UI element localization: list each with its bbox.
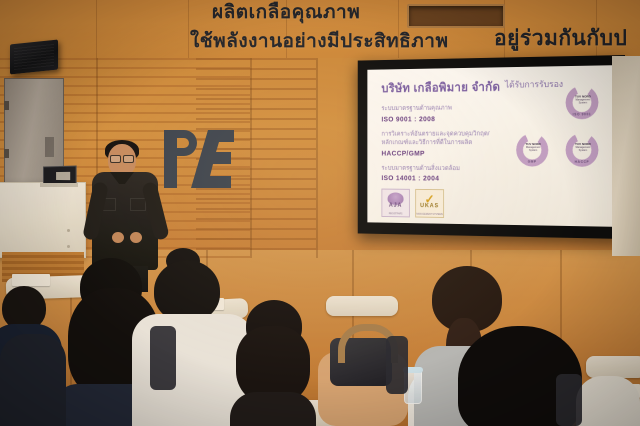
- chair-back: [386, 336, 408, 394]
- wall-slogan-line-1: ผลิตเกลือคุณภาพ: [212, 0, 360, 27]
- aja-name: AJA: [382, 203, 409, 209]
- accreditation-logos: AJA REGISTRARS ✓ UKAS MANAGEMENT SYSTEMS: [381, 189, 445, 218]
- presenter-laptop: [40, 166, 76, 188]
- cert-caption: Management System: [526, 146, 540, 152]
- tuv-nord-iso9001-icon: TUV NORD Management System ISO 9001: [566, 85, 599, 119]
- cert-mark-label: HACCP: [566, 160, 599, 164]
- cert-mark-label: GMP: [516, 160, 548, 164]
- ukas-sub: MANAGEMENT SYSTEMS: [416, 213, 443, 216]
- cert-caption: Management System: [576, 98, 591, 104]
- lectern: [0, 182, 86, 258]
- audience-member: [230, 300, 316, 426]
- tuv-nord-gmp-icon: TUV NORD Management System GMP: [516, 133, 548, 166]
- wall-slogan-line-2: ใช้พลังงานอย่างมีประสิทธิภาพ: [190, 26, 448, 56]
- ukas-logo: ✓ UKAS MANAGEMENT SYSTEMS: [415, 189, 444, 218]
- projection-screen-frame: บริษัท เกลือพิมาย จำกัด ได้รับการรับรอง …: [358, 55, 625, 239]
- chair-back: [150, 326, 176, 390]
- tuv-nord-haccp-icon: TUV NORD Management System HACCP: [566, 133, 599, 167]
- aja-logo: AJA REGISTRARS: [381, 189, 409, 218]
- ukas-name: UKAS: [416, 203, 443, 209]
- handbag: [330, 338, 392, 386]
- chair-back: [556, 374, 582, 426]
- right-wall-panel: [612, 56, 640, 256]
- lecture-hall-photo: ผลิตเกลือคุณภาพ ใช้พลังงานอย่างมีประสิทธ…: [0, 0, 640, 426]
- cert-caption: Management System: [576, 146, 591, 152]
- handout-paper: [12, 274, 50, 286]
- wall-speaker: [10, 39, 58, 74]
- audience-member: [576, 368, 640, 426]
- aja-sub: REGISTRARS: [382, 212, 409, 215]
- tablet-arm-desk: [326, 296, 398, 316]
- wall-slogan-line-3: อยู่ร่วมกันกับป: [494, 22, 627, 55]
- presenter-glasses-icon: [110, 155, 134, 161]
- presenter-hand-right: [130, 232, 142, 243]
- projection-screen: บริษัท เกลือพิมาย จำกัด ได้รับการรับรอง …: [367, 65, 614, 227]
- door-plate: [45, 137, 54, 157]
- wall-sign-panel: [407, 4, 505, 28]
- cert-mark-label: ISO 9001: [566, 112, 599, 116]
- presentation-slide: บริษัท เกลือพิมาย จำกัด ได้รับการรับรอง …: [367, 65, 614, 227]
- audience-member-arm: [0, 334, 70, 426]
- presenter-hand-left: [112, 232, 124, 243]
- certification-marks: TUV NORD Management System ISO 9001 TUV …: [516, 85, 604, 214]
